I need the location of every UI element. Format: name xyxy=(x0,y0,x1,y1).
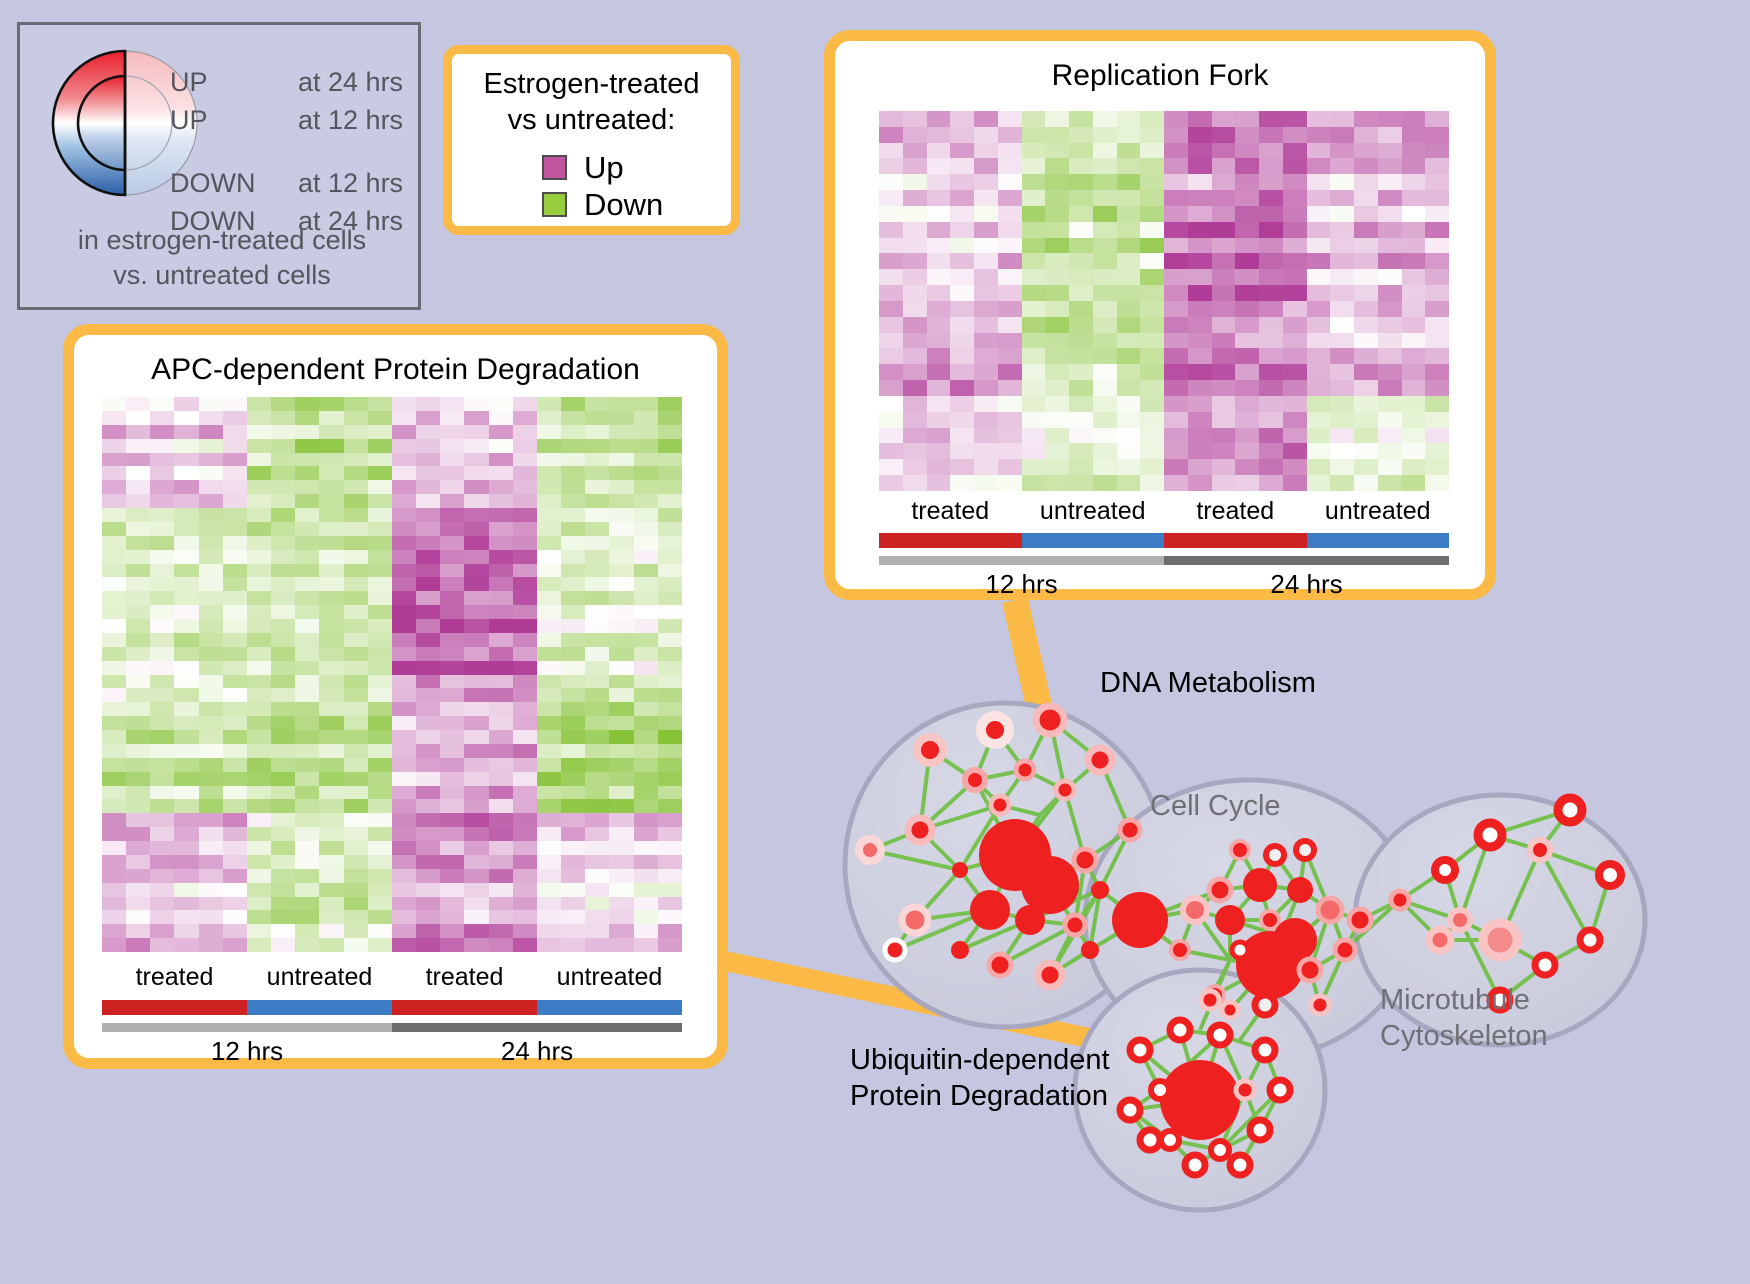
heatmap-cell xyxy=(1022,174,1046,190)
heatmap-cell xyxy=(927,364,951,380)
heatmap-cell xyxy=(223,619,247,633)
heatmap-cell xyxy=(1330,143,1354,159)
heatmap-cell xyxy=(1259,111,1283,127)
heatmap-cell xyxy=(1354,475,1378,491)
heatmap-cell xyxy=(537,480,561,494)
heatmap-cell xyxy=(1235,364,1259,380)
heatmap-cell xyxy=(1402,475,1426,491)
heatmap-cell xyxy=(1259,285,1283,301)
heatmap-cell xyxy=(464,633,488,647)
heatmap-cell xyxy=(1425,348,1449,364)
heatmap-cell xyxy=(1069,428,1093,444)
heatmap-cell xyxy=(585,675,609,689)
heatmap-cell xyxy=(126,619,150,633)
heatmap-cell xyxy=(1022,364,1046,380)
heatmap-cell xyxy=(1069,412,1093,428)
heatmap-cell xyxy=(247,897,271,911)
heatmap-cell xyxy=(223,480,247,494)
heatmap-cell xyxy=(513,536,537,550)
heatmap-cell xyxy=(1069,238,1093,254)
heatmap-cell xyxy=(199,466,223,480)
heatmap-cell xyxy=(174,564,198,578)
heatmap-cell xyxy=(609,869,633,883)
heatmap-cell xyxy=(609,633,633,647)
heatmap-cell xyxy=(271,897,295,911)
heatmap-cell xyxy=(344,716,368,730)
heatmap-cell xyxy=(537,675,561,689)
heatmap-cell xyxy=(1212,317,1236,333)
heatmap-cell xyxy=(998,158,1022,174)
heatmap-cell xyxy=(1069,348,1093,364)
heatmap-cell xyxy=(1069,380,1093,396)
heatmap-cell xyxy=(585,522,609,536)
heatmap-cell xyxy=(950,348,974,364)
heatmap-cell xyxy=(199,786,223,800)
heatmap-cell xyxy=(1354,443,1378,459)
heatmap-cell xyxy=(537,619,561,633)
heatmap-cell xyxy=(1235,348,1259,364)
heatmap-cell xyxy=(271,799,295,813)
heatmap-cell xyxy=(102,439,126,453)
heatmap-cell xyxy=(102,661,126,675)
heatmap-cell xyxy=(974,333,998,349)
heatmap-cell xyxy=(609,799,633,813)
heatmap-cell xyxy=(537,605,561,619)
heatmap-cell xyxy=(368,702,392,716)
heatmap-cell xyxy=(585,744,609,758)
heatmap-cell xyxy=(464,758,488,772)
heatmap-cell xyxy=(585,786,609,800)
heatmap-cell xyxy=(1425,127,1449,143)
heatmap-cell xyxy=(247,924,271,938)
heatmap-cell xyxy=(344,633,368,647)
heatmap-cell xyxy=(126,675,150,689)
heatmap-cell xyxy=(344,786,368,800)
heatmap-cell xyxy=(634,869,658,883)
heatmap-cell xyxy=(998,459,1022,475)
time-label-row-apc: 12 hrs24 hrs xyxy=(102,1038,682,1064)
heatmap-cell xyxy=(950,127,974,143)
heatmap-cell xyxy=(1378,396,1402,412)
heatmap-cell xyxy=(609,536,633,550)
heatmap-cell xyxy=(174,480,198,494)
heatmap-cell xyxy=(199,397,223,411)
heatmap-cell xyxy=(950,428,974,444)
heatmap-cell xyxy=(464,716,488,730)
heatmap-cell xyxy=(1140,222,1164,238)
heatmap-cell xyxy=(513,813,537,827)
wheel-row-down-12: DOWN at 12 hrs xyxy=(170,170,418,197)
heatmap-cell xyxy=(392,633,416,647)
heatmap-cell xyxy=(368,897,392,911)
heatmap-cell xyxy=(150,661,174,675)
heatmap-cell xyxy=(150,730,174,744)
heatmap-cell xyxy=(1259,206,1283,222)
heatmap-cell xyxy=(271,702,295,716)
heatmap-cell xyxy=(319,619,343,633)
heatmap-cell xyxy=(585,564,609,578)
heatmap-cell xyxy=(1045,459,1069,475)
heatmap-cell xyxy=(1212,143,1236,159)
heatmap-cell xyxy=(585,841,609,855)
heatmap-cell xyxy=(879,174,903,190)
heatmap-cell xyxy=(658,786,682,800)
heatmap-cell xyxy=(998,285,1022,301)
heatmap-cell xyxy=(464,425,488,439)
heatmap-cell xyxy=(1117,127,1141,143)
heatmap-cell xyxy=(585,508,609,522)
heatmap-cell xyxy=(344,924,368,938)
heatmap-cell xyxy=(1330,174,1354,190)
heatmap-cell xyxy=(1212,206,1236,222)
heatmap-cell xyxy=(295,813,319,827)
heatmap-cell xyxy=(1022,396,1046,412)
heatmap-cell xyxy=(634,453,658,467)
heatmap-cell xyxy=(102,397,126,411)
heatmap-cell xyxy=(609,466,633,480)
heatmap-cell xyxy=(1164,158,1188,174)
heatmap-cell xyxy=(440,647,464,661)
heatmap-cell xyxy=(585,924,609,938)
heatmap-cell xyxy=(1402,317,1426,333)
heatmap-cell xyxy=(174,647,198,661)
heatmap-cell xyxy=(1402,269,1426,285)
heatmap-cell xyxy=(1283,269,1307,285)
heatmap-cell xyxy=(974,206,998,222)
heatmap-cell xyxy=(1022,412,1046,428)
heatmap-cell xyxy=(1045,428,1069,444)
heatmap-cell xyxy=(1093,206,1117,222)
heatmap-cell xyxy=(295,439,319,453)
heatmap-cell xyxy=(199,661,223,675)
heatmap-cell xyxy=(126,730,150,744)
heatmap-cell xyxy=(271,536,295,550)
heatmap-cell xyxy=(974,301,998,317)
heatmap-cell xyxy=(344,883,368,897)
microtubule-label-line1: Microtubule xyxy=(1380,982,1548,1018)
heatmap-cell xyxy=(368,466,392,480)
heatmap-cell xyxy=(174,730,198,744)
heatmap-cell xyxy=(1259,412,1283,428)
heatmap-cell xyxy=(1283,238,1307,254)
heatmap-cell xyxy=(609,480,633,494)
heatmap-cell xyxy=(1164,412,1188,428)
heatmap-cell xyxy=(609,841,633,855)
heatmap-cell xyxy=(126,758,150,772)
heatmap-cell xyxy=(368,647,392,661)
heatmap-cell xyxy=(126,883,150,897)
heatmap-cell xyxy=(927,412,951,428)
heatmap-cell xyxy=(1283,127,1307,143)
heatmap-cell xyxy=(1354,111,1378,127)
heatmap-cell xyxy=(223,494,247,508)
heatmap-cell xyxy=(1093,285,1117,301)
heatmap-cell xyxy=(1307,475,1331,491)
heatmap-cell xyxy=(927,333,951,349)
heatmap-cell xyxy=(1283,364,1307,380)
heatmap-cell xyxy=(561,730,585,744)
heatmap-cell xyxy=(464,536,488,550)
heatmap-cell xyxy=(1093,269,1117,285)
updown-title-line1: Estrogen-treated xyxy=(452,66,731,102)
condition-color-bar xyxy=(1164,533,1307,548)
heatmap-cell xyxy=(1235,222,1259,238)
heatmap-cell xyxy=(927,127,951,143)
heatmap-cell xyxy=(319,425,343,439)
heatmap-cell xyxy=(440,855,464,869)
heatmap-cell xyxy=(464,577,488,591)
heatmap-cell xyxy=(998,301,1022,317)
heatmap-cell xyxy=(319,716,343,730)
heatmap-cell xyxy=(903,396,927,412)
heatmap-cell xyxy=(1045,238,1069,254)
heatmap-cell xyxy=(634,550,658,564)
heatmap-cell xyxy=(609,508,633,522)
condition-label: untreated xyxy=(247,965,392,990)
heatmap-cell xyxy=(927,206,951,222)
heatmap-cell xyxy=(1330,475,1354,491)
heatmap-cell xyxy=(634,494,658,508)
heatmap-cell xyxy=(344,758,368,772)
heatmap-cell xyxy=(1259,380,1283,396)
heatmap-cell xyxy=(927,238,951,254)
heatmap-cell xyxy=(319,577,343,591)
heatmap-cell xyxy=(1378,380,1402,396)
heatmap-cell xyxy=(174,938,198,952)
heatmap-cell xyxy=(102,883,126,897)
heatmap-cell xyxy=(658,799,682,813)
heatmap-cell xyxy=(1307,443,1331,459)
condition-color-bar xyxy=(1307,533,1450,548)
heatmap-cell xyxy=(585,411,609,425)
heatmap-cell xyxy=(1378,127,1402,143)
heatmap-cell xyxy=(392,799,416,813)
heatmap-cell xyxy=(319,480,343,494)
heatmap-cell xyxy=(1069,174,1093,190)
heatmap-cell xyxy=(464,883,488,897)
heatmap-cell xyxy=(585,439,609,453)
heatmap-cell xyxy=(1212,364,1236,380)
heatmap-cell xyxy=(1022,222,1046,238)
heatmap-cell xyxy=(1425,285,1449,301)
heatmap-cell xyxy=(344,522,368,536)
heatmap-cell xyxy=(223,508,247,522)
heatmap-cell xyxy=(102,897,126,911)
heatmap-cell xyxy=(513,453,537,467)
heatmap-cell xyxy=(489,702,513,716)
heatmap-cell xyxy=(1188,317,1212,333)
heatmap-cell xyxy=(609,564,633,578)
heatmap-cell xyxy=(344,855,368,869)
heatmap-apc-degradation xyxy=(102,397,682,952)
heatmap-cell xyxy=(1307,412,1331,428)
heatmap-cell xyxy=(344,647,368,661)
heatmap-cell xyxy=(1045,443,1069,459)
heatmap-cell xyxy=(513,841,537,855)
heatmap-cell xyxy=(513,439,537,453)
heatmap-cell xyxy=(344,897,368,911)
heatmap-cell xyxy=(199,522,223,536)
heatmap-cell xyxy=(150,425,174,439)
panel-replication-fork: Replication Fork treateduntreatedtreated… xyxy=(824,30,1496,600)
heatmap-cell xyxy=(1117,443,1141,459)
heatmap-cell xyxy=(174,550,198,564)
heatmap-cell xyxy=(513,730,537,744)
heatmap-cell xyxy=(223,813,247,827)
heatmap-cell xyxy=(1235,190,1259,206)
heatmap-cell xyxy=(150,924,174,938)
heatmap-cell xyxy=(1425,253,1449,269)
heatmap-cell xyxy=(1330,269,1354,285)
heatmap-cell xyxy=(1164,285,1188,301)
heatmap-cell xyxy=(489,425,513,439)
heatmap-cell xyxy=(271,772,295,786)
heatmap-cell xyxy=(126,480,150,494)
heatmap-cell xyxy=(903,222,927,238)
heatmap-cell xyxy=(464,619,488,633)
heatmap-cell xyxy=(440,453,464,467)
heatmap-cell xyxy=(634,730,658,744)
heatmap-cell xyxy=(1259,174,1283,190)
heatmap-cell xyxy=(609,786,633,800)
heatmap-cell xyxy=(513,577,537,591)
heatmap-cell xyxy=(368,786,392,800)
heatmap-cell xyxy=(440,466,464,480)
heatmap-cell xyxy=(271,869,295,883)
heatmap-cell xyxy=(247,813,271,827)
heatmap-cell xyxy=(634,397,658,411)
heatmap-cell xyxy=(368,688,392,702)
heatmap-cell xyxy=(1307,396,1331,412)
heatmap-cell xyxy=(658,577,682,591)
heatmap-cell xyxy=(247,841,271,855)
heatmap-cell xyxy=(1188,285,1212,301)
heatmap-cell xyxy=(247,799,271,813)
heatmap-cell xyxy=(1212,475,1236,491)
heatmap-cell xyxy=(561,619,585,633)
heatmap-cell xyxy=(1164,380,1188,396)
heatmap-cell xyxy=(368,397,392,411)
heatmap-cell xyxy=(1117,158,1141,174)
heatmap-cell xyxy=(223,730,247,744)
heatmap-cell xyxy=(1117,380,1141,396)
heatmap-cell xyxy=(392,425,416,439)
heatmap-cell xyxy=(561,411,585,425)
heatmap-cell xyxy=(199,855,223,869)
heatmap-cell xyxy=(1425,269,1449,285)
heatmap-cell xyxy=(658,466,682,480)
heatmap-cell xyxy=(1164,348,1188,364)
heatmap-cell xyxy=(102,744,126,758)
heatmap-cell xyxy=(295,688,319,702)
heatmap-cell xyxy=(950,364,974,380)
heatmap-cell xyxy=(1283,459,1307,475)
heatmap-cell xyxy=(464,605,488,619)
heatmap-cell xyxy=(634,744,658,758)
heatmap-cell xyxy=(247,910,271,924)
network-svg xyxy=(800,620,1750,1279)
heatmap-cell xyxy=(1093,443,1117,459)
heatmap-cell xyxy=(658,397,682,411)
wheel-time-label: at 12 hrs xyxy=(298,170,418,197)
heatmap-cell xyxy=(1093,428,1117,444)
cluster-label-dna-metabolism: DNA Metabolism xyxy=(1100,665,1316,701)
heatmap-cell xyxy=(1283,285,1307,301)
heatmap-cell xyxy=(368,619,392,633)
heatmap-cell xyxy=(223,397,247,411)
heatmap-cell xyxy=(126,605,150,619)
heatmap-cell xyxy=(1425,111,1449,127)
heatmap-cell xyxy=(392,577,416,591)
heatmap-cell xyxy=(464,855,488,869)
heatmap-cell xyxy=(537,827,561,841)
heatmap-cell xyxy=(609,897,633,911)
heatmap-cell xyxy=(440,480,464,494)
figure-canvas: UP at 24 hrs UP at 12 hrs DOWN at 12 hrs… xyxy=(0,0,1750,1279)
heatmap-cell xyxy=(974,348,998,364)
heatmap-cell xyxy=(634,924,658,938)
heatmap-cell xyxy=(126,453,150,467)
heatmap-cell xyxy=(319,730,343,744)
heatmap-cell xyxy=(1117,143,1141,159)
heatmap-cell xyxy=(1093,127,1117,143)
heatmap-cell xyxy=(440,938,464,952)
heatmap-cell xyxy=(585,647,609,661)
heatmap-cell xyxy=(174,466,198,480)
heatmap-cell xyxy=(489,397,513,411)
heatmap-cell xyxy=(489,758,513,772)
heatmap-cell xyxy=(1212,238,1236,254)
heatmap-cell xyxy=(561,633,585,647)
heatmap-cell xyxy=(319,758,343,772)
heatmap-cell xyxy=(513,619,537,633)
heatmap-cell xyxy=(344,536,368,550)
heatmap-cell xyxy=(392,508,416,522)
heatmap-cell xyxy=(223,855,247,869)
heatmap-cell xyxy=(1117,238,1141,254)
heatmap-cell xyxy=(223,550,247,564)
heatmap-cell xyxy=(440,688,464,702)
legend-label-up: Up xyxy=(584,152,624,183)
heatmap-cell xyxy=(344,938,368,952)
condition-bar-row-rf xyxy=(879,533,1449,548)
heatmap-cell xyxy=(1330,412,1354,428)
heatmap-cell xyxy=(392,647,416,661)
heatmap-cell xyxy=(513,647,537,661)
heatmap-cell xyxy=(223,647,247,661)
heatmap-cell xyxy=(174,924,198,938)
heatmap-cell xyxy=(1378,443,1402,459)
heatmap-cell xyxy=(199,439,223,453)
wheel-row-up-12: UP at 12 hrs xyxy=(170,107,418,134)
heatmap-cell xyxy=(903,253,927,269)
heatmap-cell xyxy=(174,619,198,633)
heatmap-cell xyxy=(1402,333,1426,349)
heatmap-cell xyxy=(1425,238,1449,254)
heatmap-cell xyxy=(609,855,633,869)
heatmap-cell xyxy=(392,758,416,772)
heatmap-cell xyxy=(1022,158,1046,174)
heatmap-cell xyxy=(561,772,585,786)
heatmap-cell xyxy=(974,396,998,412)
heatmap-cell xyxy=(1307,285,1331,301)
heatmap-cell xyxy=(247,466,271,480)
heatmap-cell xyxy=(416,633,440,647)
heatmap-cell xyxy=(1307,190,1331,206)
heatmap-cell xyxy=(658,480,682,494)
heatmap-cell xyxy=(658,910,682,924)
heatmap-cell xyxy=(319,508,343,522)
